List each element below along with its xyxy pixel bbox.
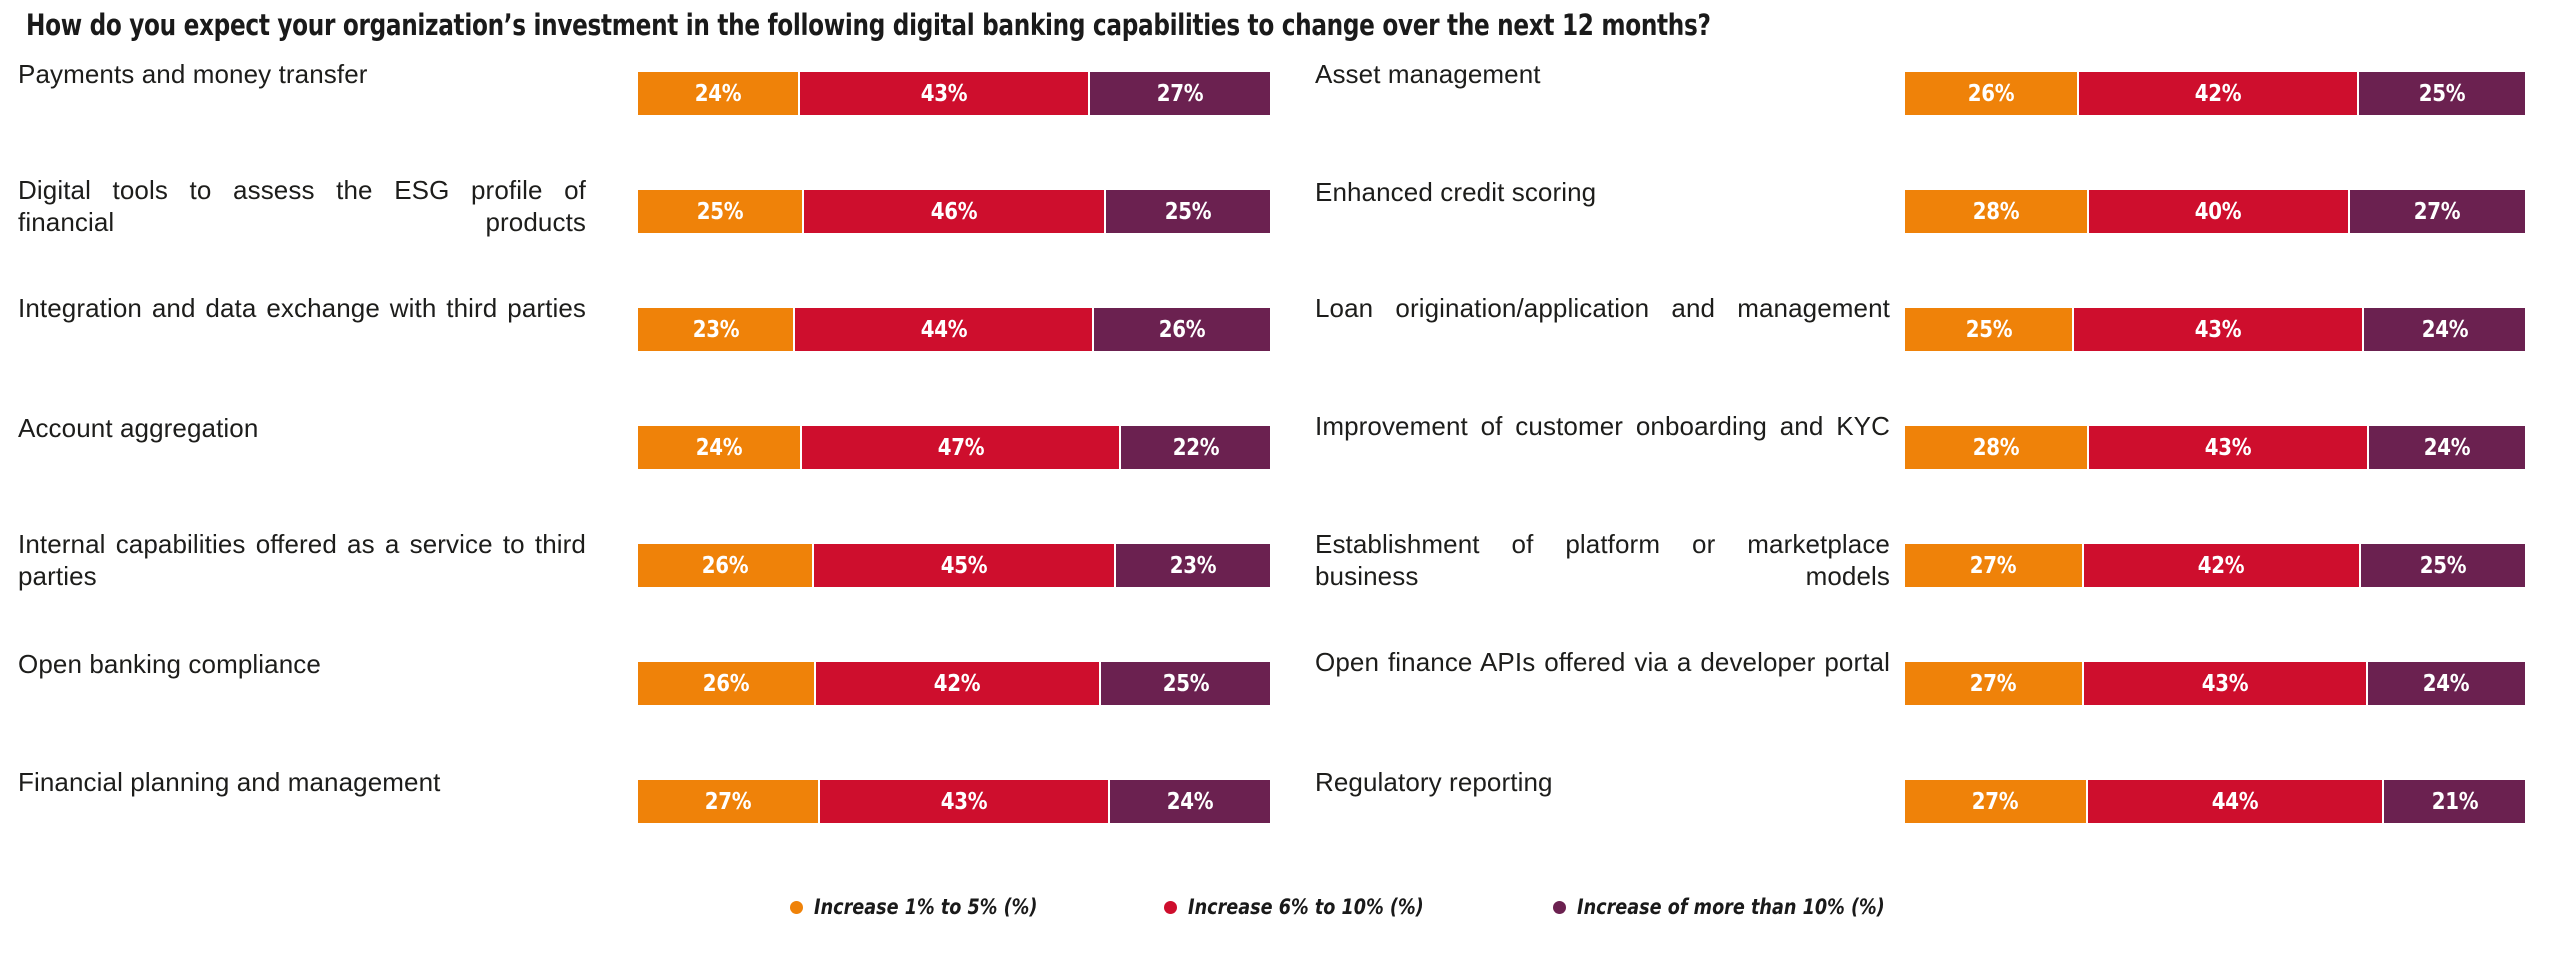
category-label: Account aggregation <box>18 412 586 444</box>
category-label: Enhanced credit scoring <box>1315 176 1890 208</box>
category-label: Payments and money transfer <box>18 58 586 90</box>
category-label: Regulatory reporting <box>1315 766 1890 798</box>
category-label: Establishment of platform or marketplace… <box>1315 528 1890 592</box>
bar-segment-value: 44% <box>921 317 968 343</box>
legend-dot-red <box>1164 901 1177 914</box>
bar-segment-increase-over-10[interactable]: 24% <box>1110 780 1270 823</box>
bar-segment-increase-over-10[interactable]: 25% <box>1101 662 1270 705</box>
bar-segment-increase-6-10[interactable]: 43% <box>2084 662 2368 705</box>
chart-row: Account aggregation24%47%22% <box>0 410 1272 528</box>
category-label: Integration and data exchange with third… <box>18 292 586 324</box>
stacked-bar[interactable]: 25%43%24% <box>1905 308 2525 351</box>
bar-segment-value: 43% <box>2195 317 2242 343</box>
chart-row: Open banking compliance26%42%25% <box>0 646 1272 764</box>
category-label: Improvement of customer onboarding and K… <box>1315 410 1890 442</box>
stacked-bar[interactable]: 26%45%23% <box>638 544 1270 587</box>
bar-segment-value: 27% <box>2414 199 2461 225</box>
legend-item[interactable]: Increase 1% to 5% (%) <box>790 895 1080 919</box>
bar-segment-value: 24% <box>695 81 742 107</box>
bar-segment-value: 43% <box>941 789 988 815</box>
chart-row: Enhanced credit scoring28%40%27% <box>1315 174 2555 292</box>
bar-segment-increase-6-10[interactable]: 42% <box>2084 544 2361 587</box>
bar-segment-value: 45% <box>941 553 988 579</box>
chart-row: Financial planning and management27%43%2… <box>0 764 1272 882</box>
bar-segment-value: 25% <box>2420 553 2467 579</box>
stacked-bar[interactable]: 27%44%21% <box>1905 780 2525 823</box>
bar-segment-value: 24% <box>2421 317 2468 343</box>
stacked-bar[interactable]: 26%42%25% <box>638 662 1270 705</box>
chart-row: Digital tools to assess the ESG profile … <box>0 174 1272 292</box>
stacked-bar[interactable]: 27%43%24% <box>638 780 1270 823</box>
chart-row: Establishment of platform or marketplace… <box>1315 528 2555 646</box>
bar-segment-value: 26% <box>1968 81 2015 107</box>
stacked-bar[interactable]: 25%46%25% <box>638 190 1270 233</box>
bar-segment-increase-over-10[interactable]: 22% <box>1121 426 1270 469</box>
bar-segment-value: 24% <box>1167 789 1214 815</box>
bar-segment-increase-1-5[interactable]: 25% <box>638 190 804 233</box>
bar-segment-value: 27% <box>1157 81 1204 107</box>
bar-segment-value: 27% <box>1972 789 2019 815</box>
bar-segment-value: 25% <box>1162 671 1209 697</box>
bar-segment-increase-6-10[interactable]: 42% <box>816 662 1102 705</box>
bar-segment-increase-over-10[interactable]: 23% <box>1116 544 1270 587</box>
legend-item[interactable]: Increase of more than 10% (%) <box>1553 895 1943 919</box>
legend-item[interactable]: Increase 6% to 10% (%) <box>1164 895 1469 919</box>
bar-segment-increase-1-5[interactable]: 26% <box>638 662 816 705</box>
stacked-bar[interactable]: 24%47%22% <box>638 426 1270 469</box>
stacked-bar-chart: Payments and money transfer24%43%27%Digi… <box>0 56 2555 896</box>
chart-row: Improvement of customer onboarding and K… <box>1315 410 2555 528</box>
chart-row: Regulatory reporting27%44%21% <box>1315 764 2555 882</box>
bar-segment-value: 47% <box>937 435 984 461</box>
chart-column-right: Asset management26%42%25%Enhanced credit… <box>1315 56 2555 846</box>
bar-segment-value: 22% <box>1172 435 1219 461</box>
stacked-bar[interactable]: 28%43%24% <box>1905 426 2525 469</box>
bar-segment-increase-over-10[interactable]: 24% <box>2369 426 2525 469</box>
stacked-bar[interactable]: 27%43%24% <box>1905 662 2525 705</box>
stacked-bar[interactable]: 27%42%25% <box>1905 544 2525 587</box>
bar-segment-value: 40% <box>2195 199 2242 225</box>
bar-segment-value: 42% <box>2198 553 2245 579</box>
bar-segment-increase-1-5[interactable]: 25% <box>1905 308 2074 351</box>
bar-segment-increase-over-10[interactable]: 25% <box>2359 72 2525 115</box>
bar-segment-increase-6-10[interactable]: 42% <box>2079 72 2359 115</box>
bar-segment-value: 27% <box>1970 553 2017 579</box>
stacked-bar[interactable]: 26%42%25% <box>1905 72 2525 115</box>
bar-segment-increase-1-5[interactable]: 23% <box>638 308 795 351</box>
bar-segment-value: 25% <box>696 199 743 225</box>
chart-row: Payments and money transfer24%43%27% <box>0 56 1272 174</box>
bar-segment-increase-1-5[interactable]: 28% <box>1905 190 2089 233</box>
category-label: Digital tools to assess the ESG profile … <box>18 174 586 238</box>
bar-segment-increase-over-10[interactable]: 21% <box>2384 780 2525 823</box>
category-label: Financial planning and management <box>18 766 586 798</box>
bar-segment-increase-6-10[interactable]: 43% <box>820 780 1109 823</box>
stacked-bar[interactable]: 23%44%26% <box>638 308 1270 351</box>
bar-segment-value: 23% <box>692 317 739 343</box>
bar-segment-increase-over-10[interactable]: 25% <box>2361 544 2525 587</box>
bar-segment-increase-6-10[interactable]: 43% <box>800 72 1089 115</box>
chart-legend: Increase 1% to 5% (%)Increase 6% to 10% … <box>790 895 1943 919</box>
bar-segment-increase-6-10[interactable]: 46% <box>804 190 1107 233</box>
bar-segment-increase-6-10[interactable]: 47% <box>802 426 1121 469</box>
category-label: Asset management <box>1315 58 1890 90</box>
category-label: Loan origination/application and managem… <box>1315 292 1890 324</box>
bar-segment-increase-over-10[interactable]: 26% <box>1094 308 1270 351</box>
bar-segment-value: 26% <box>702 553 749 579</box>
bar-segment-increase-over-10[interactable]: 25% <box>1106 190 1270 233</box>
legend-label: Increase 1% to 5% (%) <box>814 895 1037 919</box>
bar-segment-value: 43% <box>921 81 968 107</box>
bar-segment-increase-over-10[interactable]: 27% <box>1090 72 1270 115</box>
bar-segment-value: 43% <box>2205 435 2252 461</box>
stacked-bar[interactable]: 24%43%27% <box>638 72 1270 115</box>
chart-row: Integration and data exchange with third… <box>0 292 1272 410</box>
chart-row: Open finance APIs offered via a develope… <box>1315 646 2555 764</box>
bar-segment-increase-6-10[interactable]: 43% <box>2074 308 2364 351</box>
bar-segment-value: 23% <box>1170 553 1217 579</box>
bar-segment-value: 24% <box>2424 435 2471 461</box>
bar-segment-value: 28% <box>1972 199 2019 225</box>
bar-segment-increase-6-10[interactable]: 40% <box>2089 190 2350 233</box>
bar-segment-value: 25% <box>1965 317 2012 343</box>
bar-segment-value: 25% <box>1165 199 1212 225</box>
bar-segment-value: 21% <box>2431 789 2478 815</box>
bar-segment-value: 46% <box>931 199 978 225</box>
bar-segment-increase-over-10[interactable]: 24% <box>2364 308 2525 351</box>
bar-segment-increase-1-5[interactable]: 27% <box>1905 780 2088 823</box>
stacked-bar[interactable]: 28%40%27% <box>1905 190 2525 233</box>
bar-segment-value: 26% <box>1159 317 1206 343</box>
legend-dot-purple <box>1553 901 1566 914</box>
chart-row: Internal capabilities offered as a servi… <box>0 528 1272 646</box>
bar-segment-value: 27% <box>1970 671 2017 697</box>
bar-segment-value: 26% <box>702 671 749 697</box>
bar-segment-increase-6-10[interactable]: 44% <box>2088 780 2385 823</box>
bar-segment-increase-1-5[interactable]: 26% <box>638 544 814 587</box>
bar-segment-increase-6-10[interactable]: 43% <box>2089 426 2370 469</box>
bar-segment-increase-1-5[interactable]: 27% <box>1905 544 2084 587</box>
legend-label: Increase of more than 10% (%) <box>1577 895 1885 919</box>
legend-label: Increase 6% to 10% (%) <box>1188 895 1424 919</box>
bar-segment-value: 25% <box>2419 81 2466 107</box>
category-label: Open finance APIs offered via a develope… <box>1315 646 1890 678</box>
bar-segment-increase-6-10[interactable]: 45% <box>814 544 1117 587</box>
category-label: Internal capabilities offered as a servi… <box>18 528 586 592</box>
legend-dot-orange <box>790 901 803 914</box>
bar-segment-increase-over-10[interactable]: 24% <box>2368 662 2525 705</box>
bar-segment-value: 42% <box>934 671 981 697</box>
bar-segment-value: 28% <box>1972 435 2019 461</box>
bar-segment-value: 42% <box>2195 81 2242 107</box>
chart-row: Loan origination/application and managem… <box>1315 292 2555 410</box>
bar-segment-value: 24% <box>2423 671 2470 697</box>
bar-segment-value: 24% <box>696 435 743 461</box>
bar-segment-increase-6-10[interactable]: 44% <box>795 308 1094 351</box>
bar-segment-increase-over-10[interactable]: 27% <box>2350 190 2525 233</box>
category-label: Open banking compliance <box>18 648 586 680</box>
bar-segment-value: 44% <box>2212 789 2259 815</box>
bar-segment-value: 43% <box>2202 671 2249 697</box>
bar-segment-increase-1-5[interactable]: 27% <box>1905 662 2084 705</box>
bar-segment-value: 27% <box>705 789 752 815</box>
chart-column-left: Payments and money transfer24%43%27%Digi… <box>0 56 1272 846</box>
bar-segment-increase-1-5[interactable]: 27% <box>638 780 820 823</box>
bar-segment-increase-1-5[interactable]: 28% <box>1905 426 2089 469</box>
page-title: How do you expect your organization’s in… <box>26 8 1946 42</box>
chart-row: Asset management26%42%25% <box>1315 56 2555 174</box>
bar-segment-increase-1-5[interactable]: 24% <box>638 72 800 115</box>
bar-segment-increase-1-5[interactable]: 26% <box>1905 72 2079 115</box>
bar-segment-increase-1-5[interactable]: 24% <box>638 426 802 469</box>
